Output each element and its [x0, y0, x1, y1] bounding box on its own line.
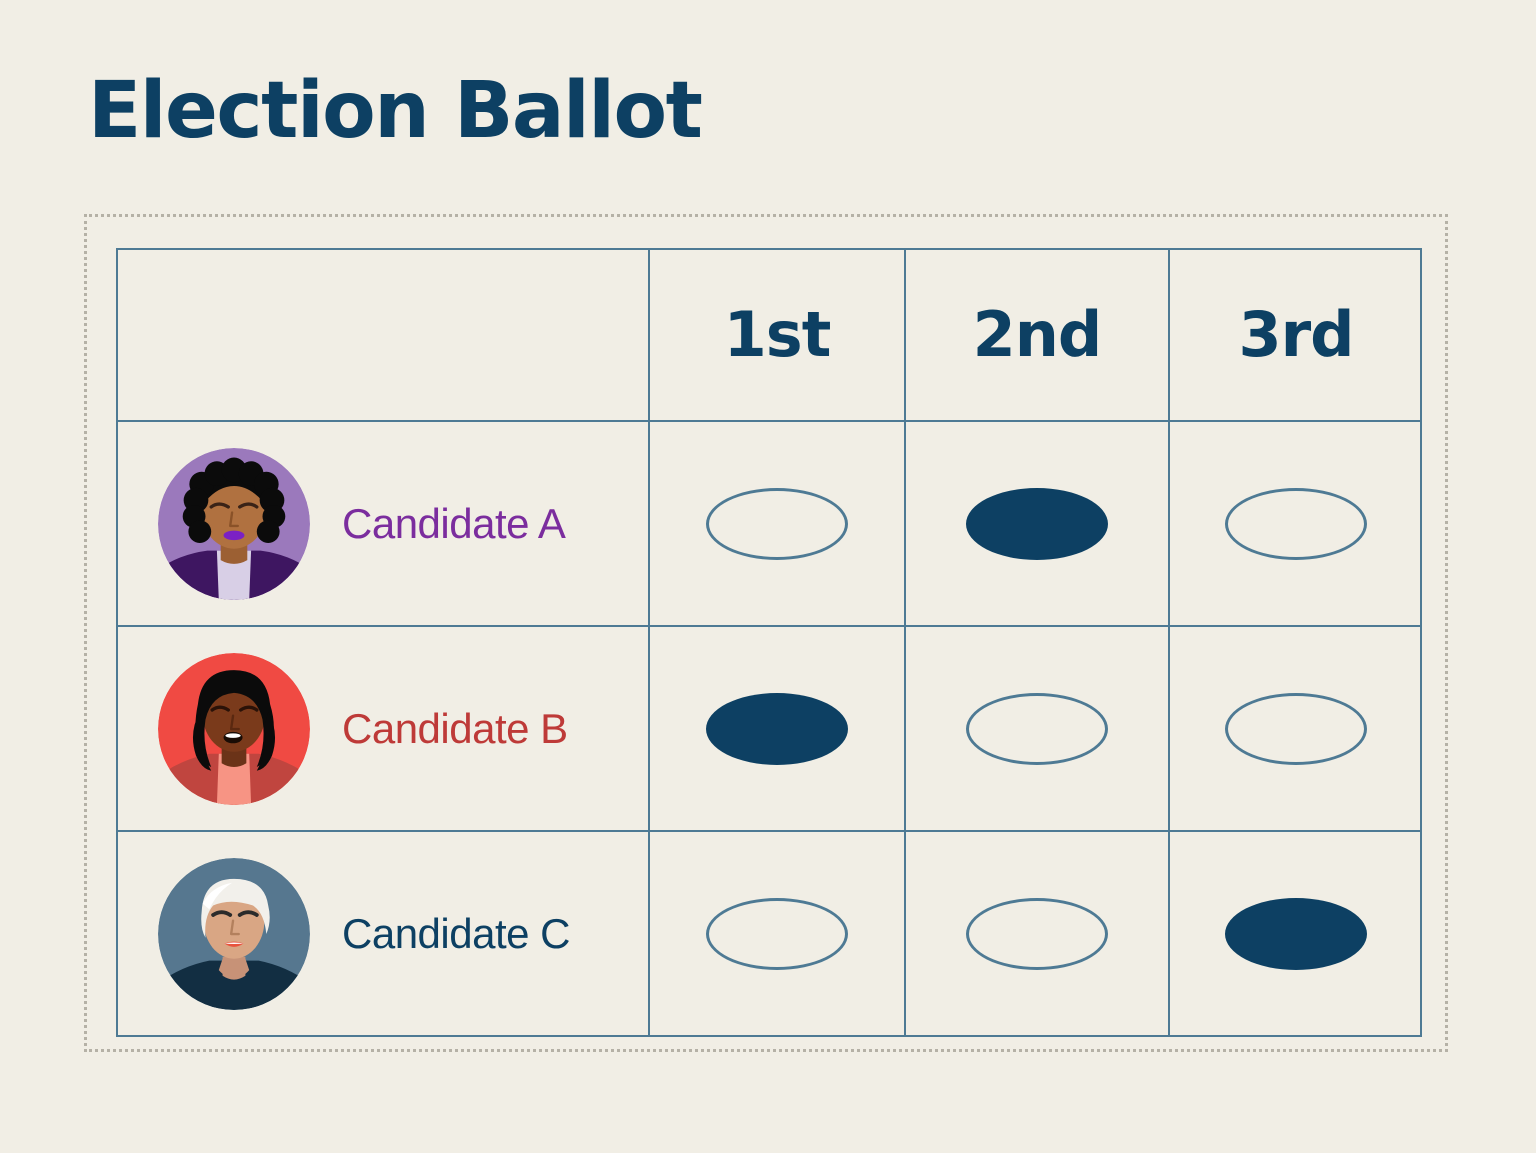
- vote-bubble-filled[interactable]: [1225, 898, 1367, 970]
- vote-cell-b-2nd[interactable]: [906, 627, 1170, 832]
- vote-cell-a-1st[interactable]: [650, 422, 906, 627]
- avatar-candidate-b: [158, 653, 310, 805]
- avatar-candidate-a: [158, 448, 310, 600]
- vote-cell-b-3rd[interactable]: [1170, 627, 1422, 832]
- vote-cell-b-1st[interactable]: [650, 627, 906, 832]
- vote-cell-c-1st[interactable]: [650, 832, 906, 1035]
- ballot-table: 1st 2nd 3rd: [116, 248, 1422, 1037]
- vote-bubble-empty[interactable]: [706, 488, 848, 560]
- rank-header-label: 1st: [724, 304, 831, 366]
- vote-cell-a-3rd[interactable]: [1170, 422, 1422, 627]
- table-row: Candidate B: [118, 627, 650, 832]
- vote-cell-c-2nd[interactable]: [906, 832, 1170, 1035]
- table-corner-cell: [118, 250, 650, 422]
- table-row: Candidate A: [118, 422, 650, 627]
- vote-cell-a-2nd[interactable]: [906, 422, 1170, 627]
- candidate-name: Candidate C: [342, 910, 570, 958]
- avatar-candidate-c: [158, 858, 310, 1010]
- rank-header-label: 3rd: [1238, 304, 1353, 366]
- vote-bubble-empty[interactable]: [966, 898, 1108, 970]
- page-title: Election Ballot: [88, 72, 701, 150]
- vote-bubble-empty[interactable]: [1225, 488, 1367, 560]
- candidate-name: Candidate B: [342, 705, 568, 753]
- rank-header-label: 2nd: [973, 304, 1102, 366]
- vote-bubble-empty[interactable]: [966, 693, 1108, 765]
- column-header-1st: 1st: [650, 250, 906, 422]
- vote-bubble-empty[interactable]: [1225, 693, 1367, 765]
- vote-bubble-filled[interactable]: [706, 693, 848, 765]
- candidate-name: Candidate A: [342, 500, 565, 548]
- vote-bubble-filled[interactable]: [966, 488, 1108, 560]
- vote-bubble-empty[interactable]: [706, 898, 848, 970]
- column-header-3rd: 3rd: [1170, 250, 1422, 422]
- column-header-2nd: 2nd: [906, 250, 1170, 422]
- table-row: Candidate C: [118, 832, 650, 1035]
- vote-cell-c-3rd[interactable]: [1170, 832, 1422, 1035]
